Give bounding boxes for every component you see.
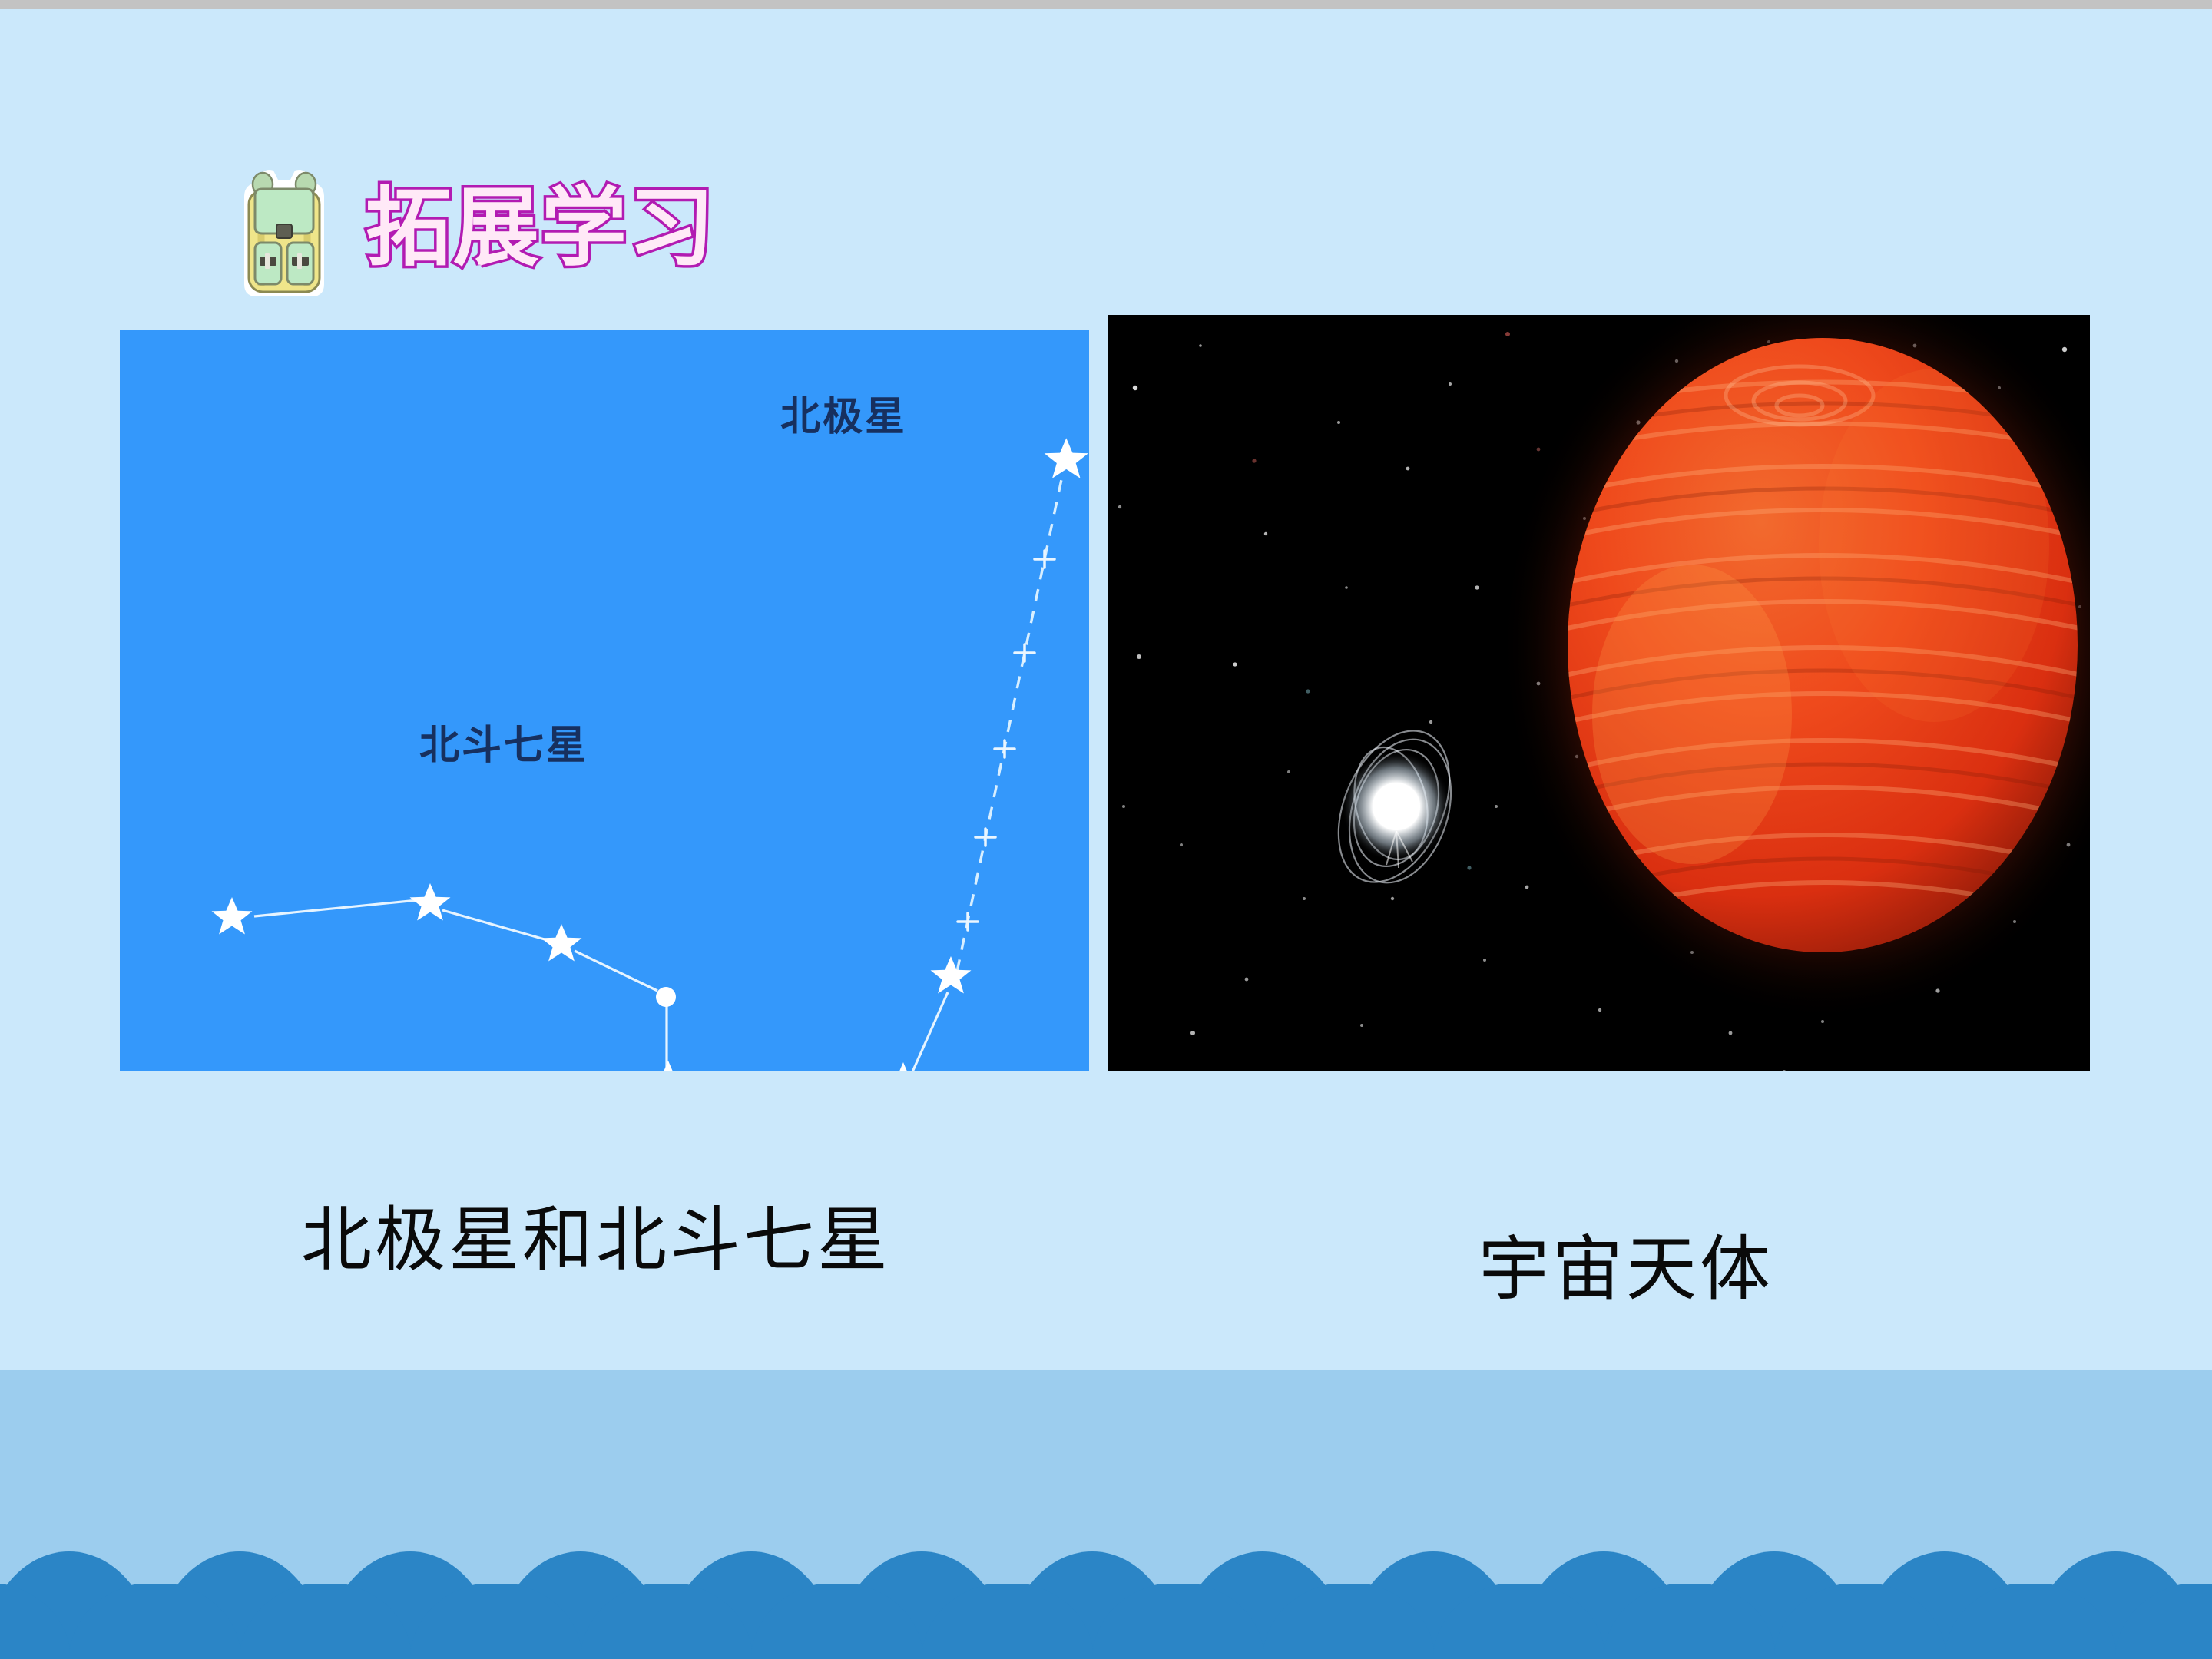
star-phecda xyxy=(648,1061,689,1071)
footer-arch-row-front xyxy=(0,1584,2212,1659)
top-edge-strip xyxy=(0,0,2212,9)
star-alkaid xyxy=(212,897,253,935)
section-heading: 拓展学习 xyxy=(230,163,716,301)
star-merak xyxy=(883,1062,924,1071)
caption-left: 北极星和北斗七星 xyxy=(301,1183,891,1285)
star-polaris xyxy=(1045,438,1088,478)
star-megrez xyxy=(656,987,676,1007)
constellation-lines xyxy=(254,900,948,1071)
star-mizar xyxy=(410,883,451,921)
page-title: 拓展学习 xyxy=(366,185,716,279)
label-polaris: 北极星 xyxy=(780,394,907,440)
backpack-bear-icon xyxy=(230,163,338,301)
constellation-stars xyxy=(212,438,1088,1071)
star-dubhe xyxy=(931,956,972,994)
polaris-pointer-line xyxy=(957,472,1063,972)
space-photo-figure xyxy=(1108,315,2090,1071)
caption-right: 宇宙天体 xyxy=(1479,1212,1773,1314)
constellation-chart-figure: 北极星 北斗七星 xyxy=(120,330,1089,1071)
label-big-dipper: 北斗七星 xyxy=(419,723,588,769)
star-alioth xyxy=(541,924,582,962)
